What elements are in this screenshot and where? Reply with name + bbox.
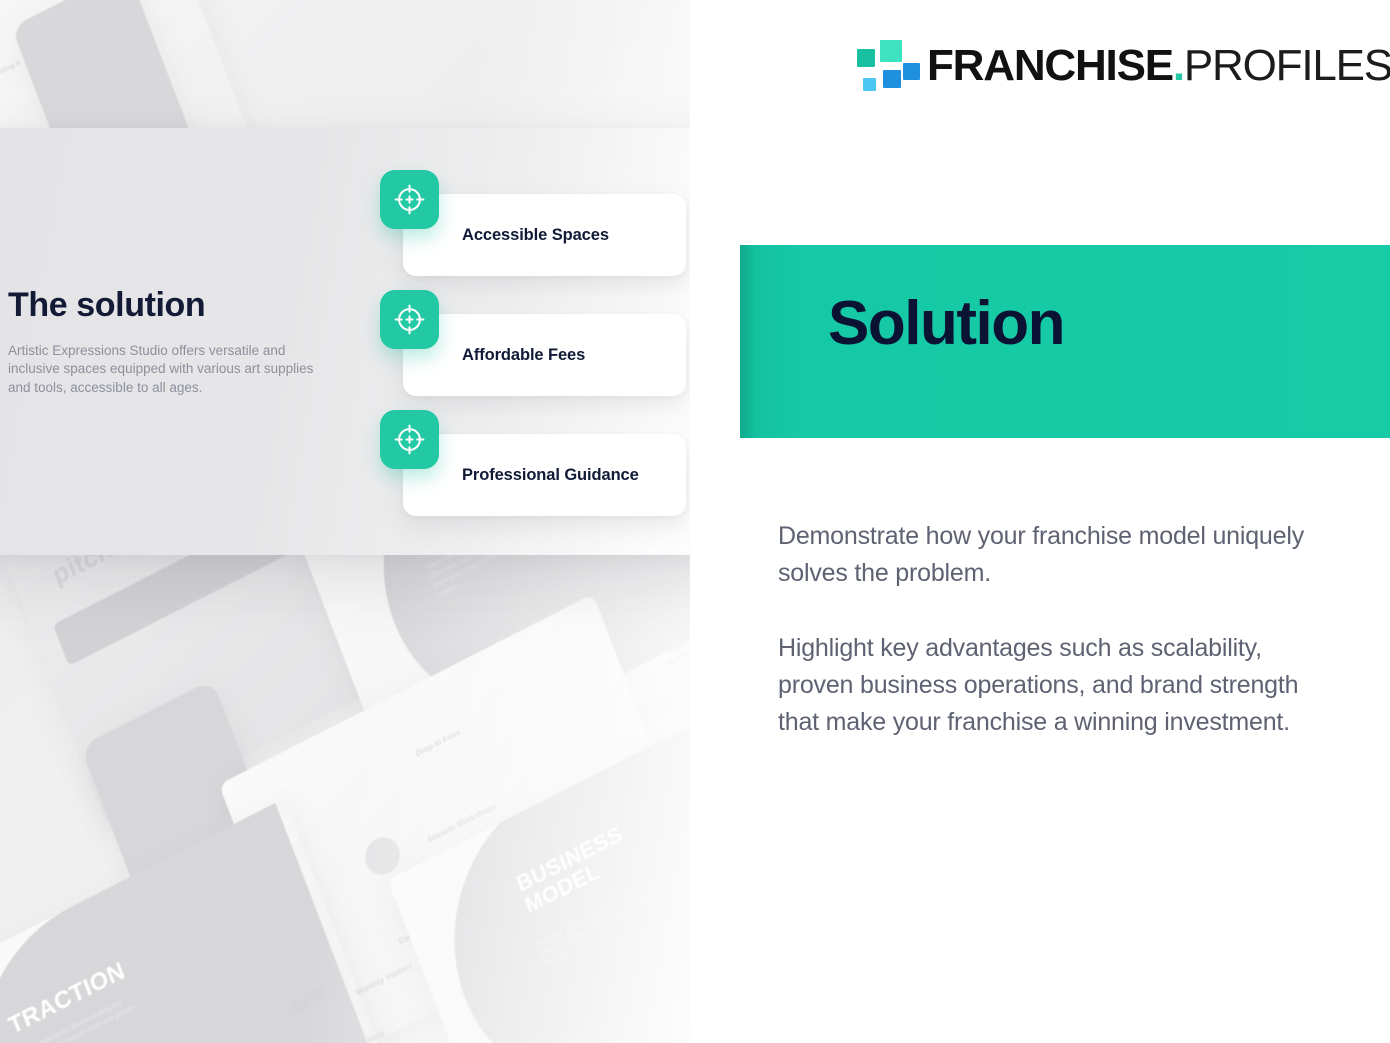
brand-name-light: PROFILES xyxy=(1184,41,1390,90)
section-paragraph-2: Highlight key advantages such as scalabi… xyxy=(778,630,1318,741)
franchise-profiles-logo-squares-icon xyxy=(853,38,909,94)
solution-preview-card: The solution Artistic Expressions Studio… xyxy=(0,128,738,555)
bg-slide-traction-stats: 1,000 Monthly Visitors 75 Workshops Held xyxy=(209,860,591,1043)
bg-slide-business-model-heading: BUSINESS MODEL xyxy=(513,815,645,917)
bg-slide-traction-body: Significant milestones demonstrating the… xyxy=(8,992,140,1043)
logo-square-blue-large xyxy=(903,63,920,80)
bg-label-session-workshops: Session Workshops xyxy=(426,801,497,844)
section-paragraph-1: Demonstrate how your franchise model uni… xyxy=(778,518,1318,592)
feature-card[interactable]: Professional Guidance xyxy=(403,434,686,516)
bg-slide-revenue-coin xyxy=(360,831,405,881)
section-title: Solution xyxy=(828,293,1064,355)
brand-name-bold: FRANCHISE xyxy=(927,41,1173,90)
bg-slide-fundraising-heading: FUNDR xyxy=(526,1020,606,1043)
bg-slide-fundraising: FUNDR xyxy=(459,910,690,1043)
logo-square-teal-large xyxy=(857,49,875,67)
content-pane: FRANCHISE.PROFILES Solution Demonstrate … xyxy=(690,0,1390,1043)
slide-page: spaces in urban and suburban areas, repr… xyxy=(0,0,1390,1043)
preview-description: Artistic Expressions Studio offers versa… xyxy=(8,342,320,398)
bg-slide-traction-heading: TRACTION xyxy=(5,957,129,1041)
section-banner: Solution xyxy=(740,245,1390,438)
section-body: Demonstrate how your franchise model uni… xyxy=(778,518,1318,741)
logo-square-mint-large xyxy=(880,40,902,62)
preview-title: The solution xyxy=(8,288,338,324)
feature-label: Professional Guidance xyxy=(462,466,639,485)
feature-item-professional-guidance[interactable]: Professional Guidance xyxy=(380,410,710,530)
brand-logo[interactable]: FRANCHISE.PROFILES xyxy=(853,38,1390,94)
bg-slide-revenue: Drop-in Fees Session Workshops Commissio… xyxy=(219,594,690,1043)
bg-label-drop-in-fees: Drop-in Fees xyxy=(414,728,461,759)
feature-item-accessible-spaces[interactable]: Accessible Spaces xyxy=(380,170,710,290)
bg-slide-pricing: Flexible Pricing xyxy=(556,806,690,1043)
crosshair-target-icon xyxy=(380,410,439,469)
bg-stat-visitors-value: 1,000 xyxy=(287,983,329,1018)
bg-slide-business-model-blob xyxy=(411,698,690,1043)
bg-label-flexible-pricing: Flexible Pricing xyxy=(642,958,690,994)
crosshair-target-icon xyxy=(380,170,439,229)
bg-label-commissioned-art: Commissioned Art Sales xyxy=(397,896,484,947)
bg-stat-visitors-label: Monthly Visitors xyxy=(355,961,414,998)
bg-slide-business-model: BUSINESS MODEL Revenue generation throug… xyxy=(388,698,690,1043)
crosshair-target-icon xyxy=(380,290,439,349)
bg-label-limited-resources: Limited Resources xyxy=(650,626,690,675)
bg-stat-workshops-label: Workshops Held xyxy=(326,1029,385,1043)
logo-square-blue-medium xyxy=(883,70,901,88)
brand-name-dot: . xyxy=(1173,41,1184,90)
bg-slide-business-model-body: Revenue generation through diverse strea… xyxy=(537,873,682,970)
feature-label: Accessible Spaces xyxy=(462,226,609,245)
bg-slide-traction-blob xyxy=(0,803,383,1043)
logo-square-cyan-small xyxy=(863,78,876,91)
feature-label: Affordable Fees xyxy=(462,346,585,365)
brand-wordmark: FRANCHISE.PROFILES xyxy=(927,44,1390,88)
bg-slide-traction: TRACTION Significant milestones demonstr… xyxy=(0,798,392,1043)
preview-text-block: The solution Artistic Expressions Studio… xyxy=(8,288,338,398)
feature-card[interactable]: Accessible Spaces xyxy=(403,194,686,276)
feature-list: Accessible Spaces Affordab xyxy=(380,170,710,530)
feature-card[interactable]: Affordable Fees xyxy=(403,314,686,396)
feature-item-affordable-fees[interactable]: Affordable Fees xyxy=(380,290,710,410)
bg-slide-card-tall-2 xyxy=(80,679,363,1043)
